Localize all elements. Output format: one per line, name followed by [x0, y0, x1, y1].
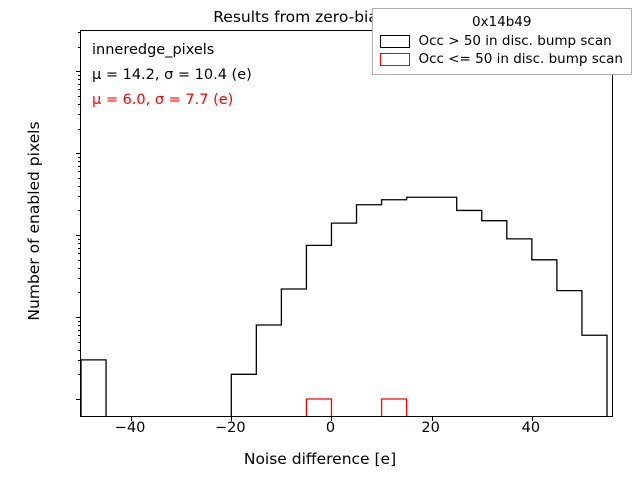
x-tick-label: −20	[215, 420, 246, 436]
y-tick-minor	[78, 161, 81, 162]
figure: Results from zero-bias scan Number of en…	[0, 0, 640, 480]
y-tick-minor	[78, 75, 81, 76]
y-tick-minor	[78, 210, 81, 211]
y-tick-minor	[78, 166, 81, 167]
y-tick-major	[76, 235, 81, 236]
y-tick-minor	[78, 360, 81, 361]
legend-title: 0x14b49	[380, 14, 623, 30]
annotation-name: inneredge_pixels	[92, 38, 252, 63]
y-tick-minor	[78, 248, 81, 249]
y-tick-minor	[78, 84, 81, 85]
y-tick-minor	[78, 196, 81, 197]
x-axis-label: Noise difference [e]	[0, 450, 640, 468]
legend-label-occ-gt-50: Occ > 50 in disc. bump scan	[418, 33, 611, 49]
y-tick-minor	[78, 157, 81, 158]
legend-swatch-black	[380, 35, 410, 48]
y-tick-minor	[78, 325, 81, 326]
x-tick-label: 20	[421, 420, 439, 436]
y-tick-minor	[78, 335, 81, 336]
y-tick-minor	[78, 96, 81, 97]
annotation-red-stats: μ = 6.0, σ = 7.7 (e)	[92, 88, 252, 113]
x-tick-label: 40	[522, 420, 540, 436]
x-tick-label: 0	[326, 420, 335, 436]
y-tick-minor	[78, 171, 81, 172]
annotation-black-stats: μ = 14.2, σ = 10.4 (e)	[92, 63, 252, 88]
stats-annotation: inneredge_pixels μ = 14.2, σ = 10.4 (e) …	[92, 38, 252, 113]
legend-item-occ-gt-50[interactable]: Occ > 50 in disc. bump scan	[380, 33, 623, 49]
y-tick-minor	[78, 342, 81, 343]
x-tick-label: −40	[115, 420, 146, 436]
y-tick-minor	[78, 114, 81, 115]
legend-item-occ-le-50[interactable]: Occ <= 50 in disc. bump scan	[380, 51, 623, 67]
y-tick-minor	[78, 321, 81, 322]
y-tick-minor	[78, 47, 81, 48]
y-tick-minor	[78, 32, 81, 33]
y-tick-minor	[78, 104, 81, 105]
y-tick-minor	[78, 260, 81, 261]
legend: 0x14b49 Occ > 50 in disc. bump scan Occ …	[372, 8, 632, 75]
y-axis-label: Number of enabled pixels	[25, 91, 43, 351]
y-tick-major	[76, 317, 81, 318]
y-tick-minor	[78, 292, 81, 293]
y-tick-major	[76, 71, 81, 72]
y-tick-minor	[78, 268, 81, 269]
y-tick-major	[76, 153, 81, 154]
histogram-step-red	[306, 399, 406, 416]
y-tick-minor	[78, 278, 81, 279]
y-tick-minor	[78, 186, 81, 187]
y-tick-minor	[78, 79, 81, 80]
y-tick-minor	[78, 178, 81, 179]
legend-swatch-red	[380, 53, 410, 66]
y-tick-minor	[78, 253, 81, 254]
series-occ-le-50	[306, 399, 406, 416]
y-tick-minor	[78, 239, 81, 240]
y-tick-minor	[78, 350, 81, 351]
y-tick-minor	[78, 129, 81, 130]
legend-label-occ-le-50: Occ <= 50 in disc. bump scan	[418, 51, 623, 67]
y-tick-minor	[78, 89, 81, 90]
y-tick-minor	[78, 330, 81, 331]
y-tick-minor	[78, 374, 81, 375]
histogram-step-black	[81, 197, 607, 416]
series-occ-gt-50	[81, 197, 607, 416]
y-tick-minor	[78, 243, 81, 244]
y-tick-major	[76, 399, 81, 400]
